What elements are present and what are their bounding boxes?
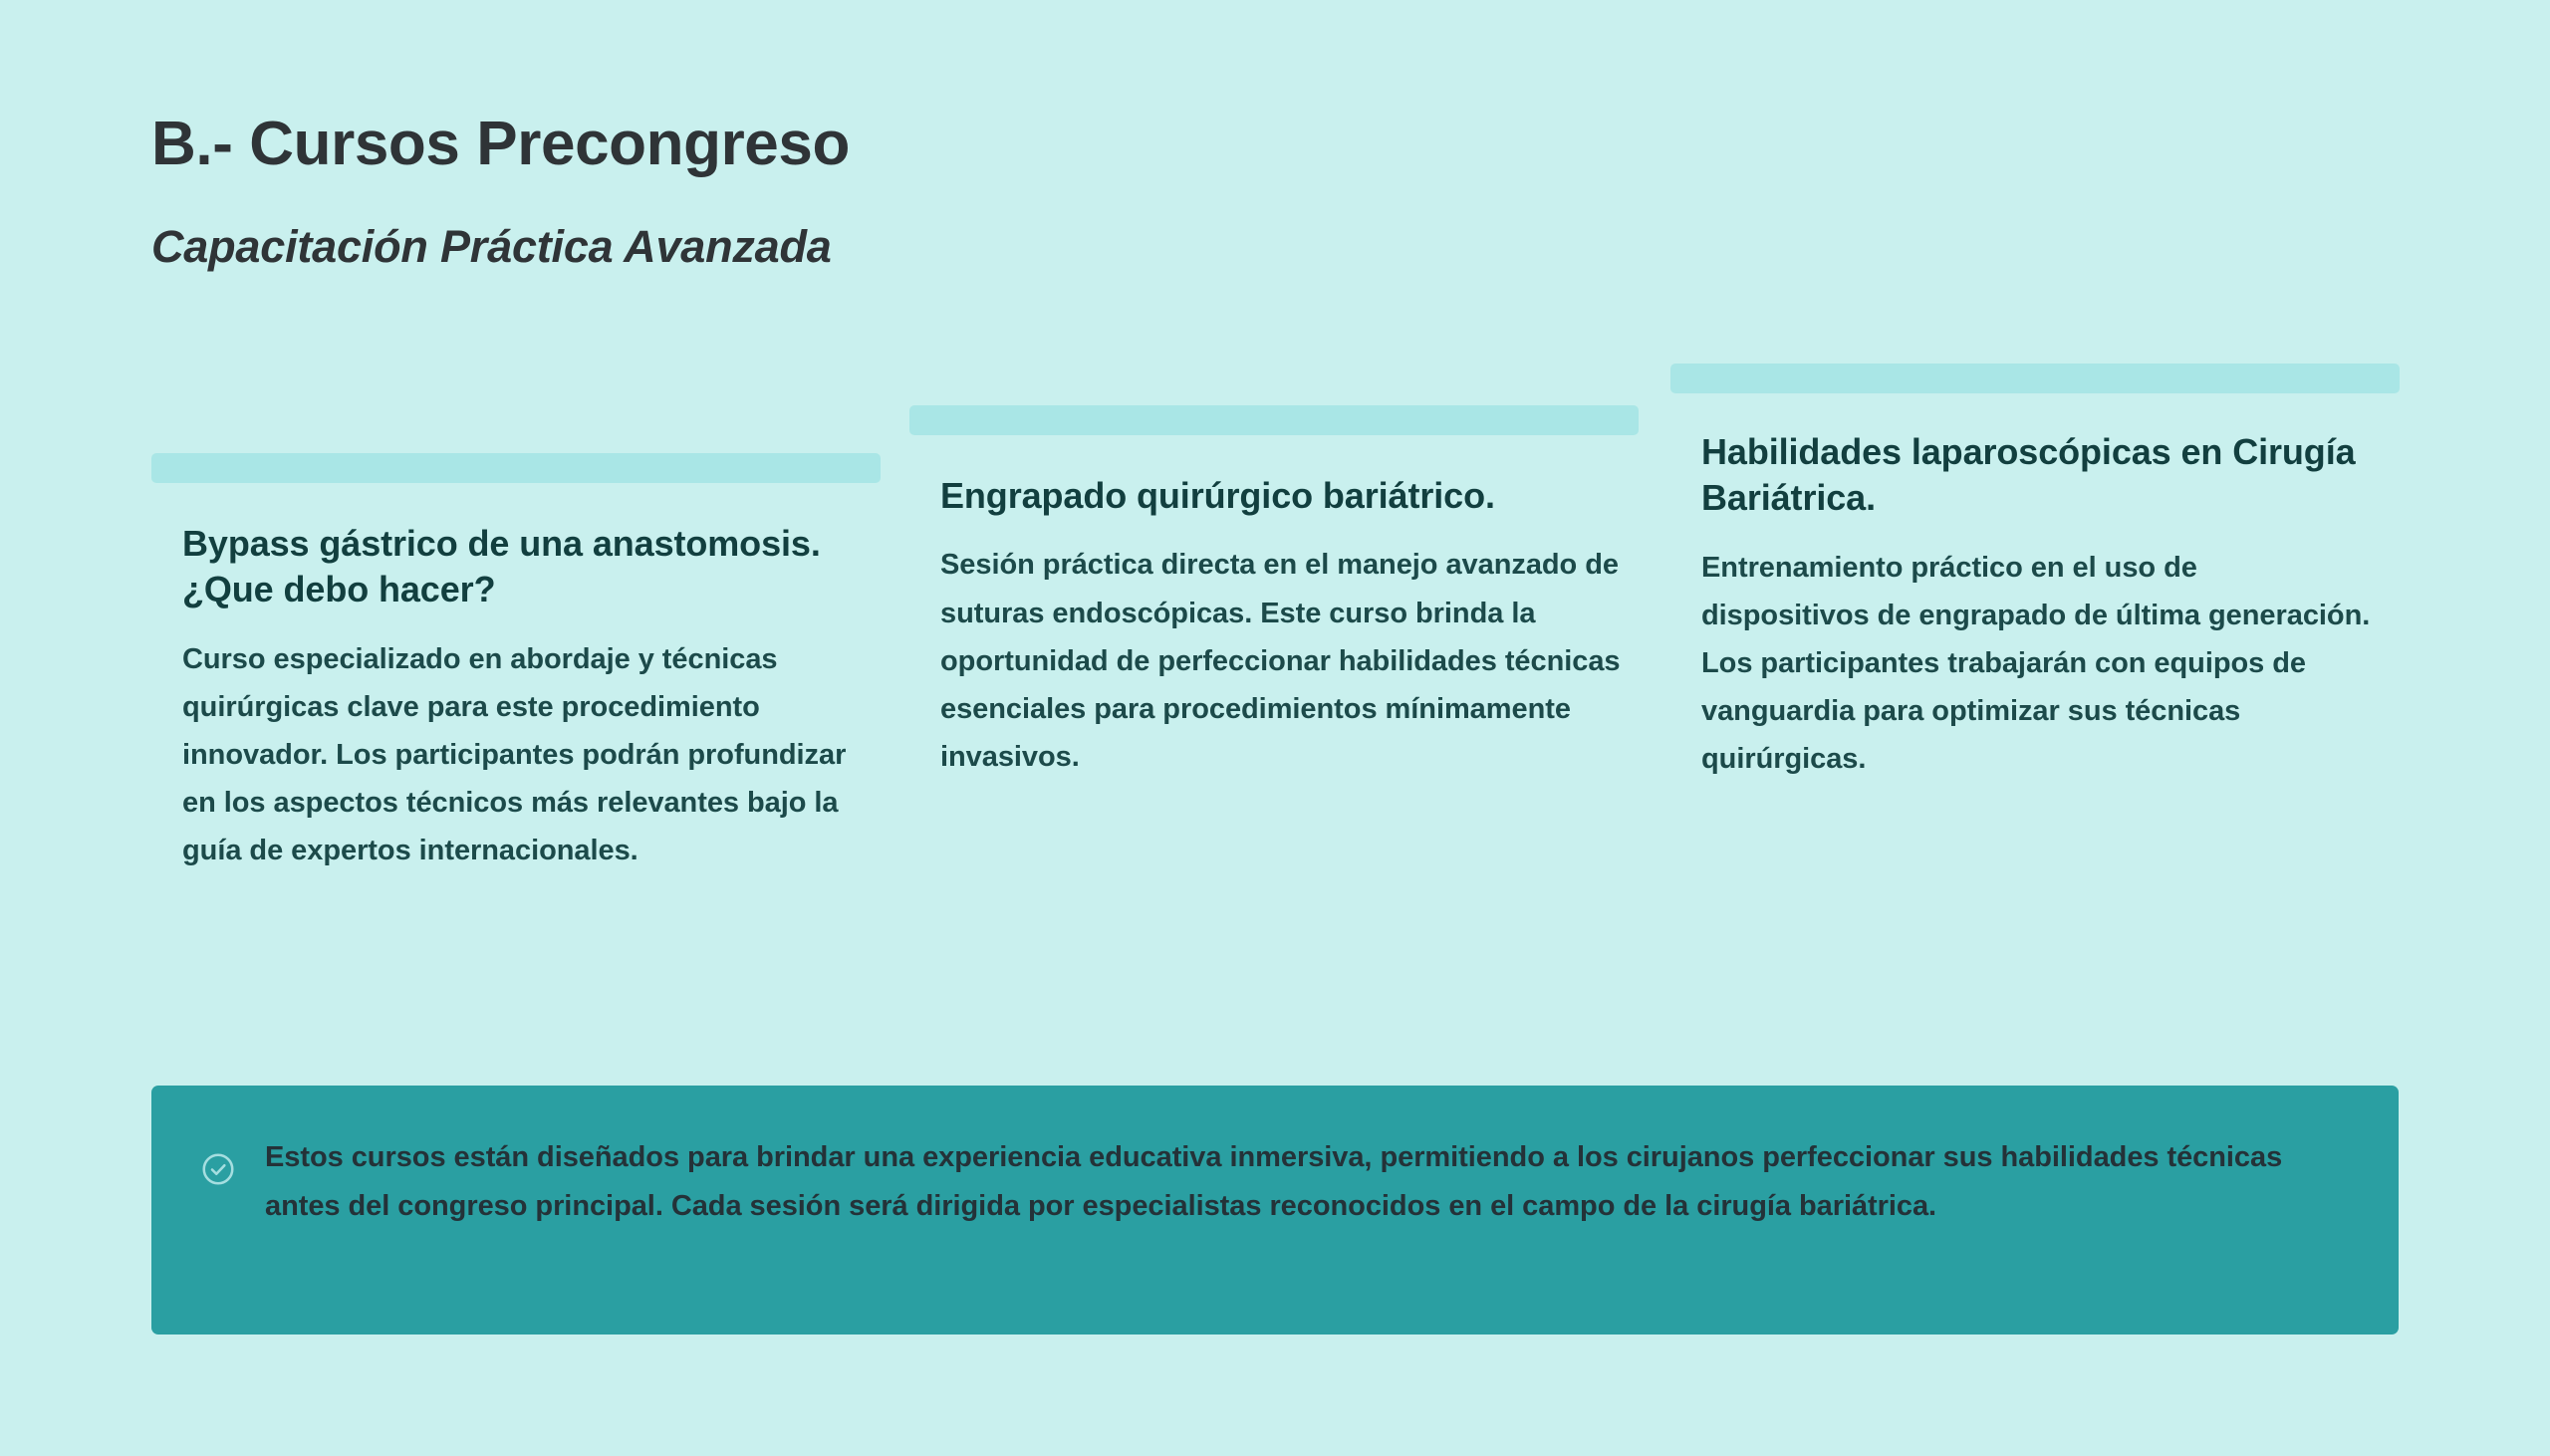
slide-header: B.- Cursos Precongreso Capacitación Prác…	[151, 112, 2243, 271]
accent-bar	[151, 453, 881, 483]
course-card-body: Bypass gástrico de una anastomosis. ¿Que…	[182, 521, 880, 875]
summary-callout-banner: Estos cursos están diseñados para brinda…	[151, 1086, 2399, 1335]
page-subtitle: Capacitación Práctica Avanzada	[151, 178, 2243, 272]
course-card-description: Sesión práctica directa en el manejo ava…	[940, 519, 1638, 781]
check-circle-icon	[199, 1150, 237, 1188]
summary-callout-text: Estos cursos están diseñados para brinda…	[265, 1133, 2343, 1230]
slide-root: B.- Cursos Precongreso Capacitación Prác…	[0, 0, 2550, 1456]
accent-bar	[1670, 364, 2400, 393]
course-card-title: Engrapado quirúrgico bariátrico.	[940, 473, 1628, 519]
course-card-description: Curso especializado en abordaje y técnic…	[182, 613, 860, 875]
course-card-3[interactable]: Habilidades laparoscópicas en Cirugía Ba…	[1670, 354, 2400, 1041]
course-card-body: Habilidades laparoscópicas en Cirugía Ba…	[1701, 429, 2399, 784]
page-title: B.- Cursos Precongreso	[151, 112, 2243, 178]
course-card-description: Entrenamiento práctico en el uso de disp…	[1701, 522, 2371, 784]
course-card-body: Engrapado quirúrgico bariátrico. Sesión …	[940, 473, 1638, 781]
course-card-title: Bypass gástrico de una anastomosis. ¿Que…	[182, 521, 880, 613]
course-card-1[interactable]: Bypass gástrico de una anastomosis. ¿Que…	[151, 354, 881, 1041]
course-card-title: Habilidades laparoscópicas en Cirugía Ba…	[1701, 429, 2389, 522]
course-cards-row: Bypass gástrico de una anastomosis. ¿Que…	[151, 354, 2399, 1041]
accent-bar	[909, 405, 1639, 435]
course-card-2[interactable]: Engrapado quirúrgico bariátrico. Sesión …	[909, 354, 1639, 1041]
